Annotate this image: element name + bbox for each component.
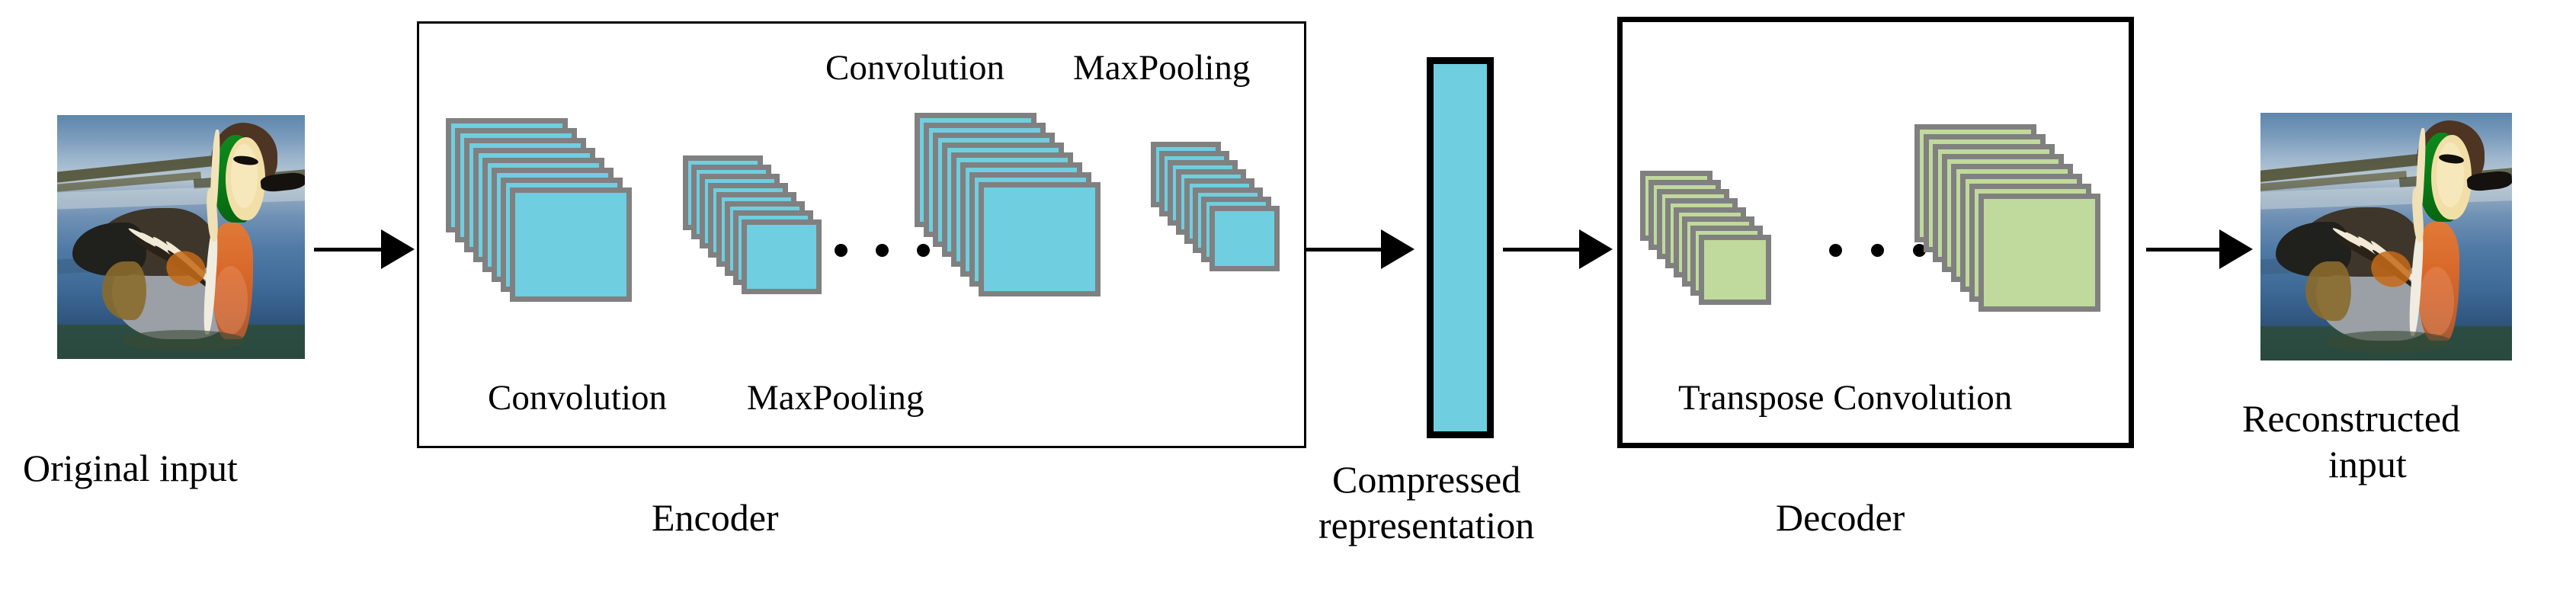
feature-map-card <box>979 182 1101 296</box>
decoder-ellipsis <box>1829 244 1926 257</box>
feature-map-card <box>510 187 632 302</box>
photo-layer <box>213 266 248 335</box>
photo-layer <box>2437 143 2464 207</box>
photo-layer <box>122 330 246 352</box>
encoder-stack-pool-n <box>1151 142 1280 271</box>
reconstructed-input-image <box>2260 113 2512 360</box>
compressed-representation-bar <box>1427 57 1494 438</box>
encoder-caption: Encoder <box>652 495 779 540</box>
ellipsis-dot <box>876 244 889 257</box>
original-input-caption: Original input <box>23 446 238 490</box>
decoder-stack-deconv-n <box>1914 124 2100 312</box>
reconstructed-caption-line1: Reconstructed <box>2242 396 2460 441</box>
original-input-image <box>57 115 305 359</box>
decoder-caption: Decoder <box>1776 495 1905 540</box>
photo-layer <box>2419 267 2454 336</box>
encoder-bottom-label-maxpooling: MaxPooling <box>747 377 924 418</box>
encoder-stack-pool-1 <box>683 155 822 294</box>
ellipsis-dot <box>1829 244 1842 257</box>
encoder-ellipsis <box>835 244 930 257</box>
encoder-stack-conv-1 <box>446 118 632 302</box>
feature-map-card <box>1978 194 2100 312</box>
decoder-inner-label: Transpose Convolution <box>1678 377 2012 418</box>
feature-map-card <box>742 219 822 294</box>
ellipsis-dot <box>1871 244 1884 257</box>
photo-layer <box>2326 331 2452 353</box>
compressed-caption-line2: representation <box>1318 503 1534 547</box>
feature-map-card <box>1699 235 1771 305</box>
encoder-stack-conv-n <box>915 113 1101 296</box>
ellipsis-dot <box>917 244 930 257</box>
encoder-bottom-label-convolution: Convolution <box>488 377 667 418</box>
reconstructed-caption-line2: input <box>2328 442 2407 486</box>
compressed-caption-line1: Compressed <box>1332 457 1520 501</box>
feature-map-card <box>1210 206 1280 271</box>
encoder-top-label-convolution: Convolution <box>825 47 1004 88</box>
photo-layer <box>2305 261 2350 321</box>
ellipsis-dot <box>835 244 847 257</box>
decoder-stack-deconv-1 <box>1640 171 1771 305</box>
encoder-top-label-maxpooling: MaxPooling <box>1073 47 1250 88</box>
photo-layer <box>231 144 258 207</box>
